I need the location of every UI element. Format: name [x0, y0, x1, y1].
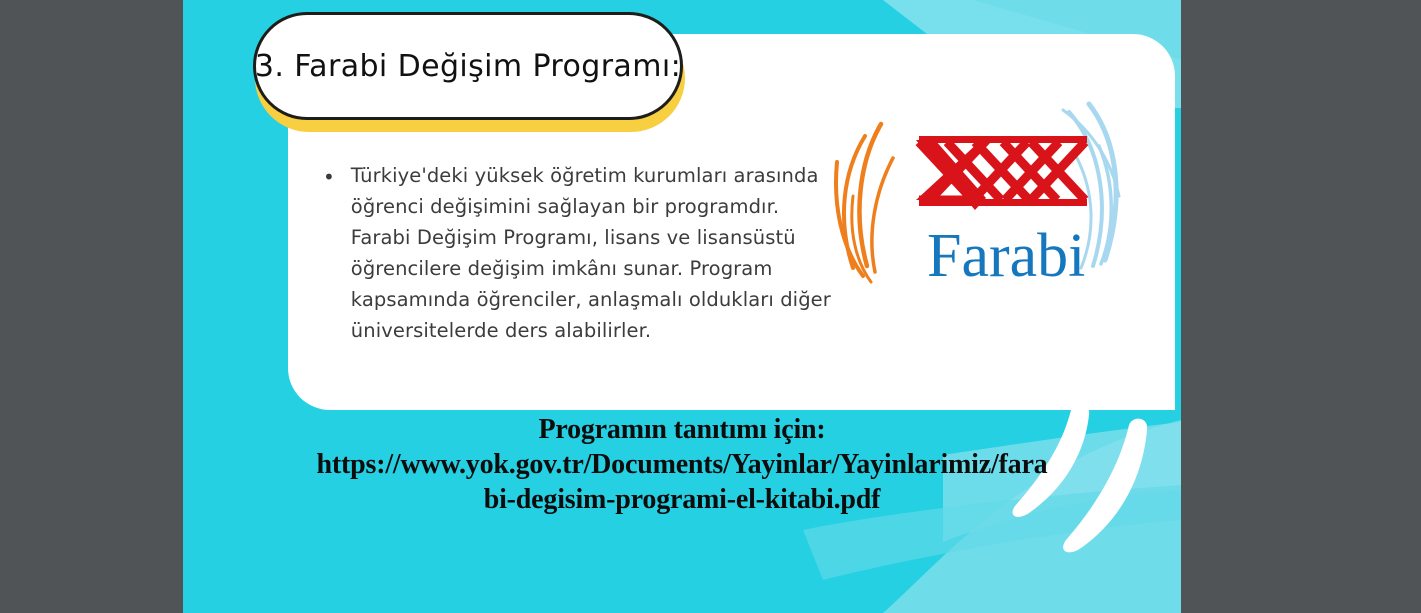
bullet-text: Türkiye'deki yüksek öğretim kurumları ar…: [351, 160, 843, 346]
bullet-list: • Türkiye'deki yüksek öğretim kurumları …: [323, 160, 843, 346]
caption-block: Programın tanıtımı için: https://www.yok…: [193, 412, 1171, 517]
title-pill: 3. Farabi Değişim Programı:: [253, 12, 683, 120]
farabi-yok-logo-icon: Farabi: [823, 100, 1143, 310]
logo-wordmark-text: Farabi: [927, 222, 1085, 290]
slide-canvas: Farabi 3. Farabi Değişim Programı: • Tür…: [183, 0, 1181, 613]
caption-url-line-2[interactable]: bi-degisim-programi-el-kitabi.pdf: [193, 482, 1171, 517]
caption-line-intro: Programın tanıtımı için:: [193, 412, 1171, 447]
list-item: • Türkiye'deki yüksek öğretim kurumları …: [323, 160, 843, 346]
caption-url-line-1[interactable]: https://www.yok.gov.tr/Documents/Yayinla…: [193, 447, 1171, 482]
screen: Farabi 3. Farabi Değişim Programı: • Tür…: [0, 0, 1421, 613]
bullet-point-icon: •: [323, 160, 335, 194]
page-title: 3. Farabi Değişim Programı:: [255, 49, 681, 84]
